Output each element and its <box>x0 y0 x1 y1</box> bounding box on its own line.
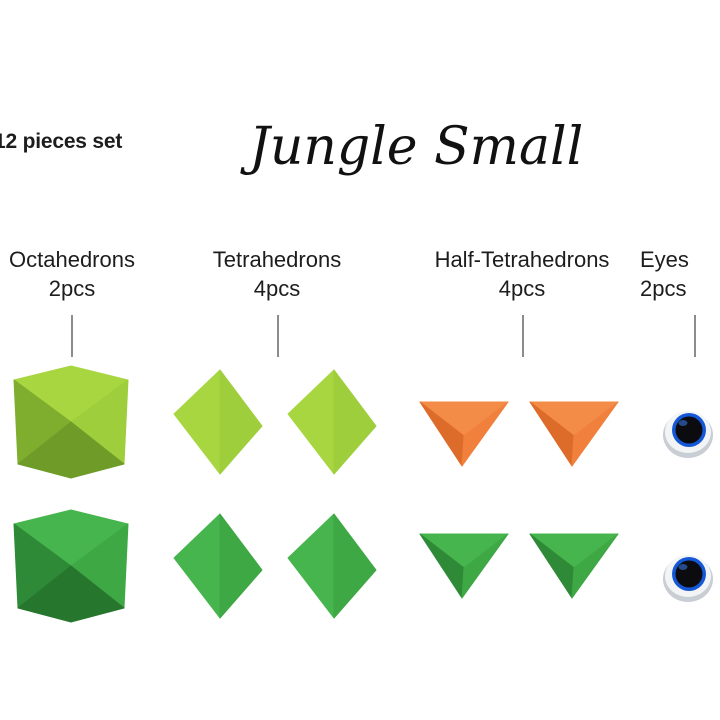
octahedron-piece-light-green <box>12 364 130 480</box>
column-header-quantity: 4pcs <box>392 274 652 303</box>
column-header-name: Tetrahedrons <box>147 245 407 274</box>
half-tetrahedron-piece-orange <box>528 396 620 468</box>
column-header-name: Half-Tetrahedrons <box>392 245 652 274</box>
pieces-count-label: 12 pieces set <box>0 130 122 154</box>
brand-title-text: Jungle Small <box>240 117 583 177</box>
column-header-name: Eyes <box>640 245 720 274</box>
connector-line-eyes <box>694 315 696 357</box>
half-tetrahedron-piece-dark-green <box>418 528 510 600</box>
tetrahedron-piece-dark-green <box>286 512 378 620</box>
half-tetrahedron-piece-dark-green <box>528 528 620 600</box>
connector-line-half-tetrahedrons <box>522 315 524 357</box>
connector-line-octahedrons <box>71 315 73 357</box>
tetrahedron-piece-dark-green <box>172 512 264 620</box>
brand-title: Jungle Small <box>243 108 543 188</box>
eye-piece <box>660 548 716 604</box>
column-header-eyes: Eyes 2pcs <box>640 245 720 303</box>
eye-piece <box>660 404 716 460</box>
column-header-half-tetrahedrons: Half-Tetrahedrons 4pcs <box>392 245 652 303</box>
connector-line-tetrahedrons <box>277 315 279 357</box>
octahedron-piece-dark-green <box>12 508 130 624</box>
column-header-quantity: 2pcs <box>640 274 720 303</box>
column-header-quantity: 4pcs <box>147 274 407 303</box>
column-header-tetrahedrons: Tetrahedrons 4pcs <box>147 245 407 303</box>
tetrahedron-piece-light-green <box>172 368 264 476</box>
tetrahedron-piece-light-green <box>286 368 378 476</box>
product-contents-image: 12 pieces set Jungle Small Octahedrons 2… <box>0 0 720 720</box>
half-tetrahedron-piece-orange <box>418 396 510 468</box>
